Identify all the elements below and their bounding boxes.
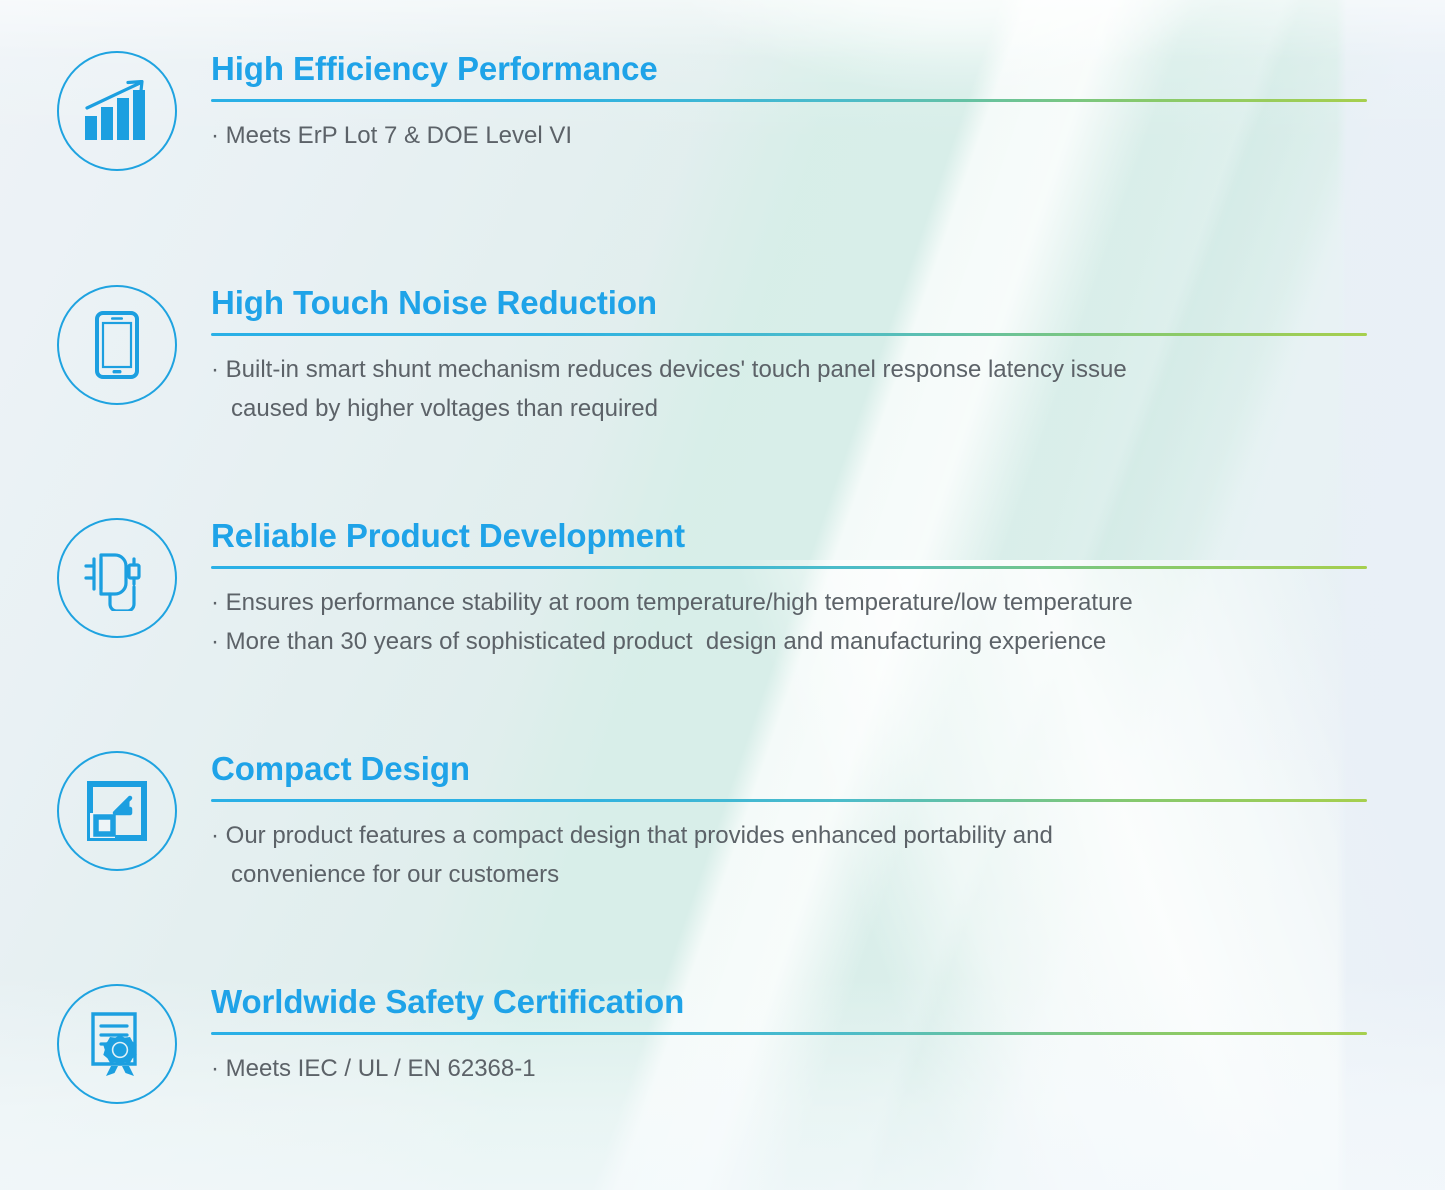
smartphone-icon <box>57 285 177 405</box>
compact-resize-icon <box>57 751 177 871</box>
feature-title: Compact Design <box>211 751 1367 787</box>
feature-line: · Our product features a compact design … <box>211 817 1367 895</box>
feature-line: · Meets ErP Lot 7 & DOE Level VI <box>211 117 1367 156</box>
feature-divider <box>211 566 1367 569</box>
power-adapter-icon <box>57 518 177 638</box>
feature-title: High Efficiency Performance <box>211 51 1367 87</box>
feature-description: · Ensures performance stability at room … <box>211 584 1367 662</box>
feature-divider <box>211 799 1367 802</box>
feature-highlights-page: High Efficiency Performance · Meets ErP … <box>0 0 1445 1190</box>
feature-body: Reliable Product Development · Ensures p… <box>211 518 1367 661</box>
feature-body: Compact Design · Our product features a … <box>211 751 1367 894</box>
feature-divider <box>211 1032 1367 1035</box>
feature-divider <box>211 333 1367 336</box>
feature-description: · Our product features a compact design … <box>211 817 1367 895</box>
feature-title: Worldwide Safety Certification <box>211 984 1367 1020</box>
feature-body: High Efficiency Performance · Meets ErP … <box>211 51 1367 156</box>
feature-title: Reliable Product Development <box>211 518 1367 554</box>
feature-line: · Meets IEC / UL / EN 62368-1 <box>211 1050 1367 1089</box>
feature-body: Worldwide Safety Certification · Meets I… <box>211 984 1367 1089</box>
feature-description: · Built-in smart shunt mechanism reduces… <box>211 351 1367 429</box>
feature-divider <box>211 99 1367 102</box>
feature-line: · Built-in smart shunt mechanism reduces… <box>211 351 1367 429</box>
feature-line: · More than 30 years of sophisticated pr… <box>211 623 1367 662</box>
feature-body: High Touch Noise Reduction · Built-in sm… <box>211 285 1367 428</box>
feature-title: High Touch Noise Reduction <box>211 285 1367 321</box>
feature-description: · Meets ErP Lot 7 & DOE Level VI <box>211 117 1367 156</box>
feature-description: · Meets IEC / UL / EN 62368-1 <box>211 1050 1367 1089</box>
feature-line: · Ensures performance stability at room … <box>211 584 1367 623</box>
bar-chart-growth-icon <box>57 51 177 171</box>
certificate-award-icon <box>57 984 177 1104</box>
